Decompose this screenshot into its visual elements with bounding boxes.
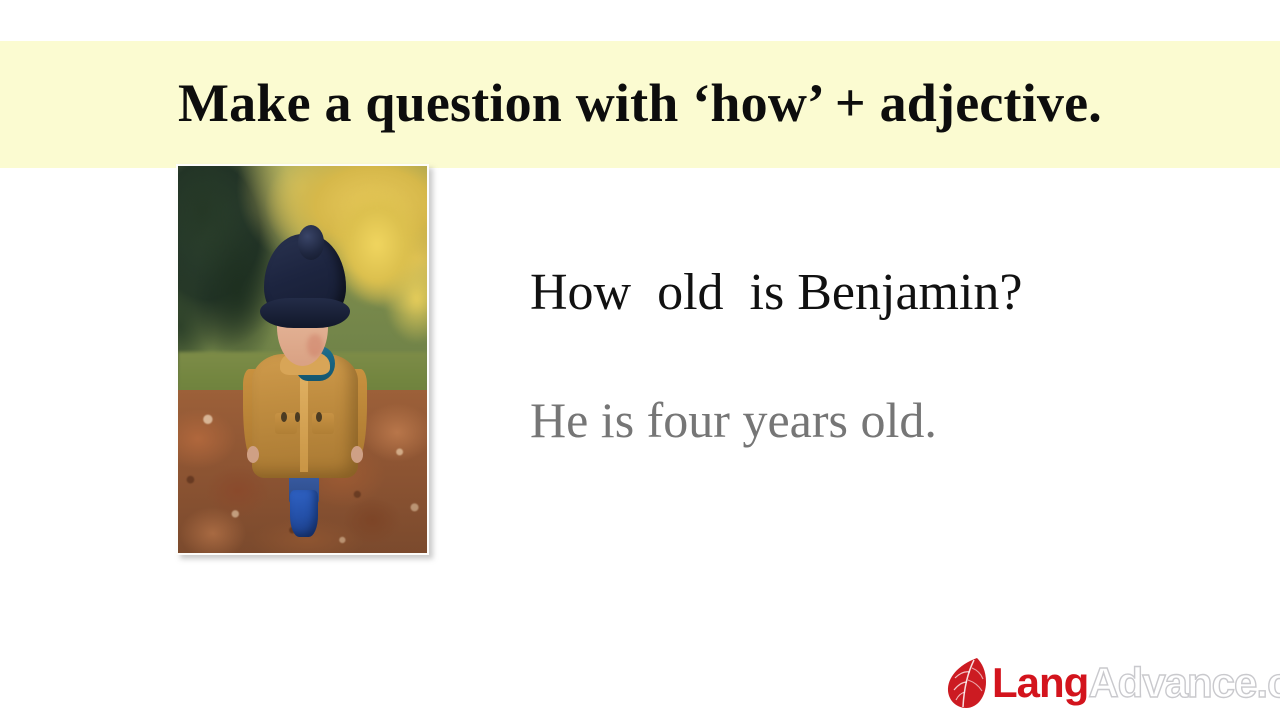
child-right-hand bbox=[351, 446, 364, 464]
child-coat-button bbox=[316, 412, 322, 422]
logo-wordmark: Lang Advance.com udemy bbox=[992, 662, 1280, 704]
photo-child-figure bbox=[248, 228, 363, 522]
child-rain-boots bbox=[290, 490, 317, 537]
child-beanie-brim bbox=[260, 298, 349, 327]
example-question: How old is Benjamin? bbox=[530, 264, 1023, 321]
brand-logo[interactable]: Lang Advance.com udemy bbox=[944, 654, 1274, 712]
child-coat-pocket-right bbox=[312, 413, 334, 434]
title-banner: Make a question with ‘how’ + adjective. bbox=[0, 41, 1280, 168]
leaf-icon bbox=[944, 656, 990, 710]
page-title: Make a question with ‘how’ + adjective. bbox=[178, 76, 1102, 134]
photo-frame bbox=[176, 164, 429, 555]
child-in-autumn-leaves-photo bbox=[178, 166, 427, 553]
example-answer: He is four years old. bbox=[530, 393, 937, 448]
slide-canvas: Make a question with ‘how’ + adjective. bbox=[0, 0, 1280, 720]
child-coat-button bbox=[281, 412, 287, 422]
logo-text-advance: Advance.com bbox=[1088, 662, 1280, 704]
logo-text-lang: Lang bbox=[992, 662, 1088, 704]
